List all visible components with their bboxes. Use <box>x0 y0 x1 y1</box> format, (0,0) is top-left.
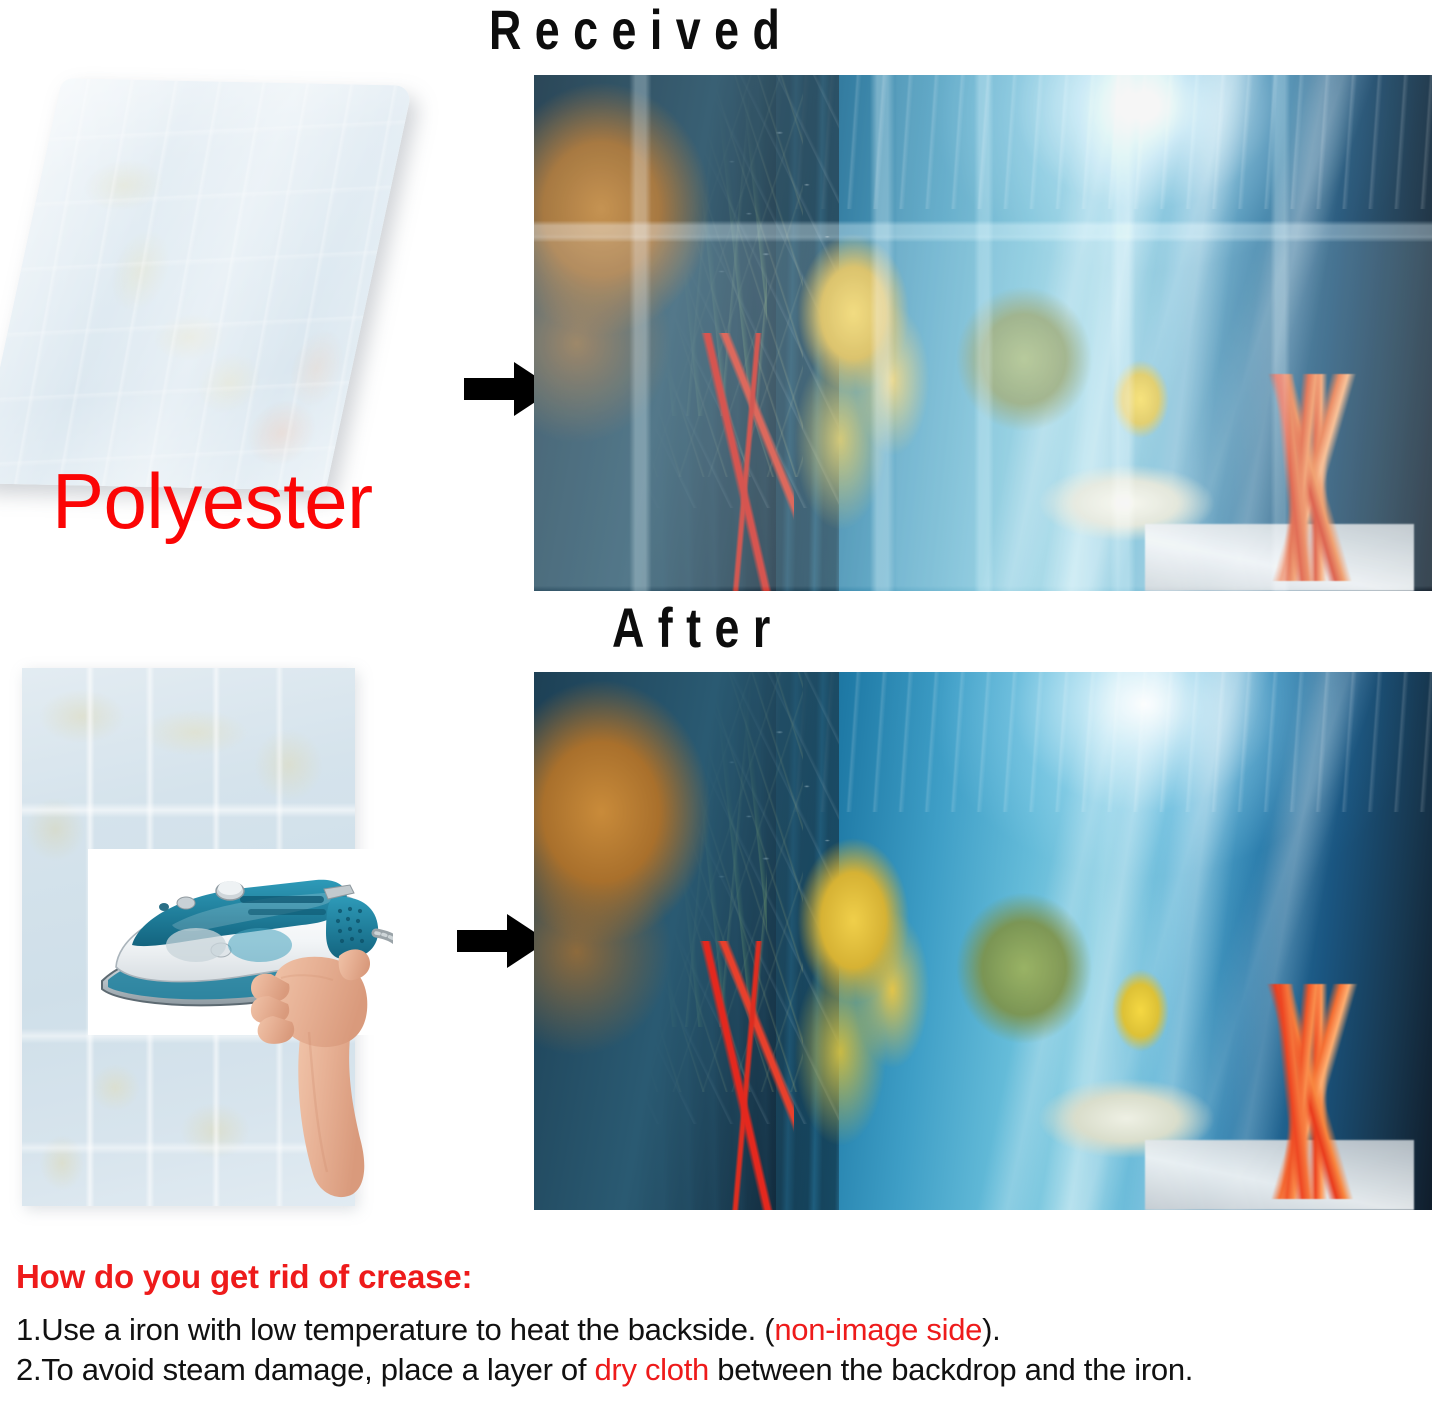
floor-red-whip-coral <box>687 941 795 1210</box>
after-backdrop-image <box>534 672 1432 1210</box>
floor-red-whip-coral <box>687 333 795 591</box>
care-instructions-block: How do you get rid of crease: 1.Use a ir… <box>16 1258 1426 1391</box>
instructions-title: How do you get rid of crease: <box>16 1258 1426 1296</box>
instruction-1-highlight: non-image side <box>774 1312 982 1347</box>
sheet-crease-lines <box>0 78 413 490</box>
polyester-material-label: Polyester <box>52 462 373 540</box>
instruction-line-1: 1.Use a iron with low temperature to hea… <box>16 1310 1426 1350</box>
instruction-line-2: 2.To avoid steam damage, place a layer o… <box>16 1350 1426 1390</box>
instruction-1-part-3: ). <box>982 1312 1000 1347</box>
received-backdrop-image <box>534 75 1432 591</box>
orange-red-branching-coral <box>1225 984 1378 1199</box>
instruction-2-number: 2. <box>16 1352 41 1387</box>
instruction-1-part-1: Use a iron with low temperature to heat … <box>41 1312 774 1347</box>
after-heading: After <box>612 600 784 656</box>
instruction-2-highlight: dry cloth <box>594 1352 708 1387</box>
folded-polyester-sheet-image <box>0 78 413 490</box>
hand-pressing-iron <box>247 912 379 1204</box>
received-heading: Received <box>489 2 793 58</box>
orange-red-branching-coral <box>1225 374 1378 580</box>
instruction-2-part-1: To avoid steam damage, place a layer of <box>41 1352 594 1387</box>
instruction-1-number: 1. <box>16 1312 41 1347</box>
instruction-2-part-3: between the backdrop and the iron. <box>709 1352 1193 1387</box>
